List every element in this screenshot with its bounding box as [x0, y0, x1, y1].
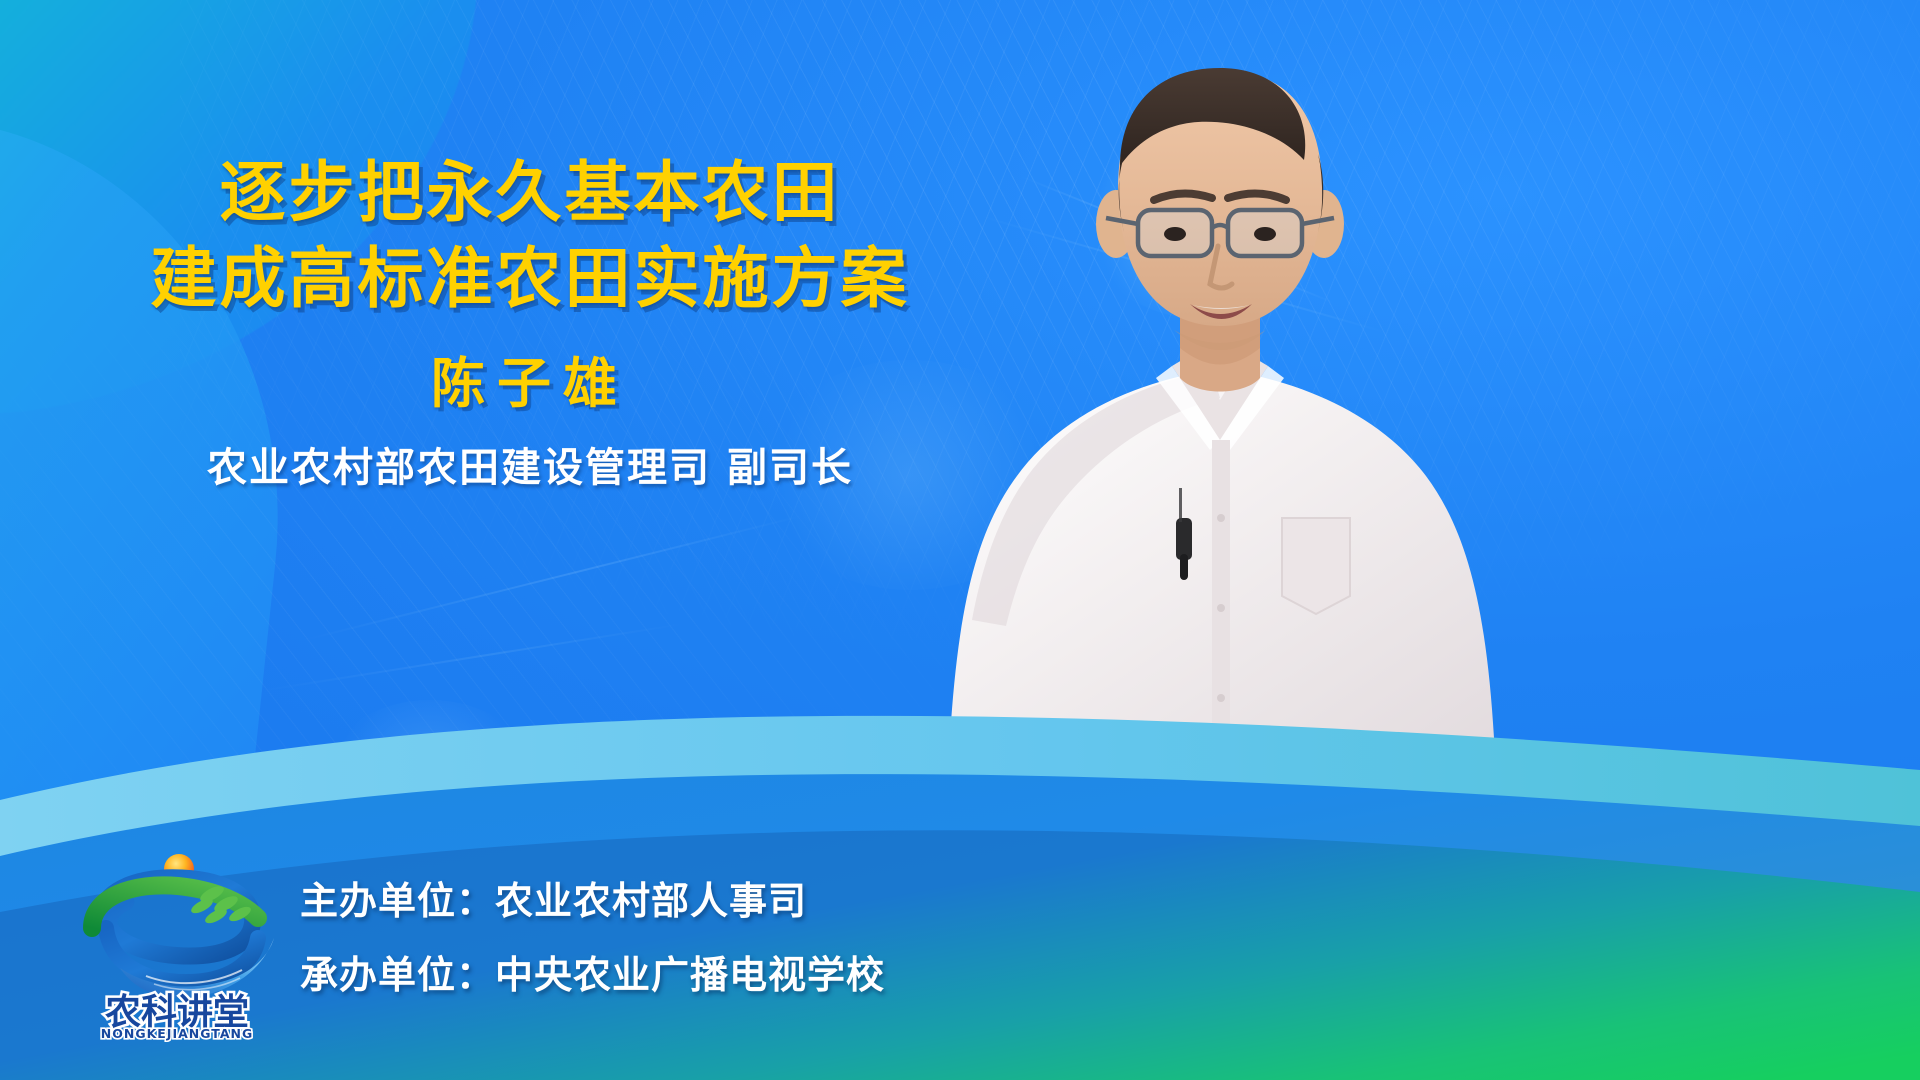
title-block: 逐步把永久基本农田 建成高标准农田实施方案 陈子雄 农业农村部农田建设管理司 副… — [0, 150, 1060, 496]
presenter-shirt-pocket — [1282, 518, 1350, 614]
banner-text-block: 主办单位：农业农村部人事司 承办单位：中央农业广播电视学校 — [300, 864, 885, 1012]
lecture-title-line-1: 逐步把永久基本农田 — [0, 150, 1060, 236]
nongke-jiangtang-logo: 农科讲堂 NONGKEJIANGTANG — [62, 842, 292, 1042]
presenter-shirt-button — [1217, 604, 1225, 612]
presenter-shirt-button — [1217, 694, 1225, 702]
lecture-title-line-2: 建成高标准农田实施方案 — [0, 236, 1060, 322]
presenter-eye-right — [1254, 227, 1276, 241]
host-line: 承办单位：中央农业广播电视学校 — [300, 938, 885, 1012]
logo-mark: 农科讲堂 NONGKEJIANGTANG — [62, 842, 292, 1042]
logo-name-pinyin: NONGKEJIANGTANG — [101, 1026, 253, 1041]
video-title-card: 逐步把永久基本农田 建成高标准农田实施方案 陈子雄 农业农村部农田建设管理司 副… — [0, 0, 1920, 1080]
presenter-shirt-button — [1217, 514, 1225, 522]
presenter-shirt-placket — [1212, 440, 1230, 738]
speaker-role: 农业农村部农田建设管理司 副司长 — [0, 440, 1060, 496]
speaker-name: 陈子雄 — [0, 348, 1060, 420]
presenter-eye-left — [1164, 227, 1186, 241]
organizer-line: 主办单位：农业农村部人事司 — [300, 864, 885, 938]
